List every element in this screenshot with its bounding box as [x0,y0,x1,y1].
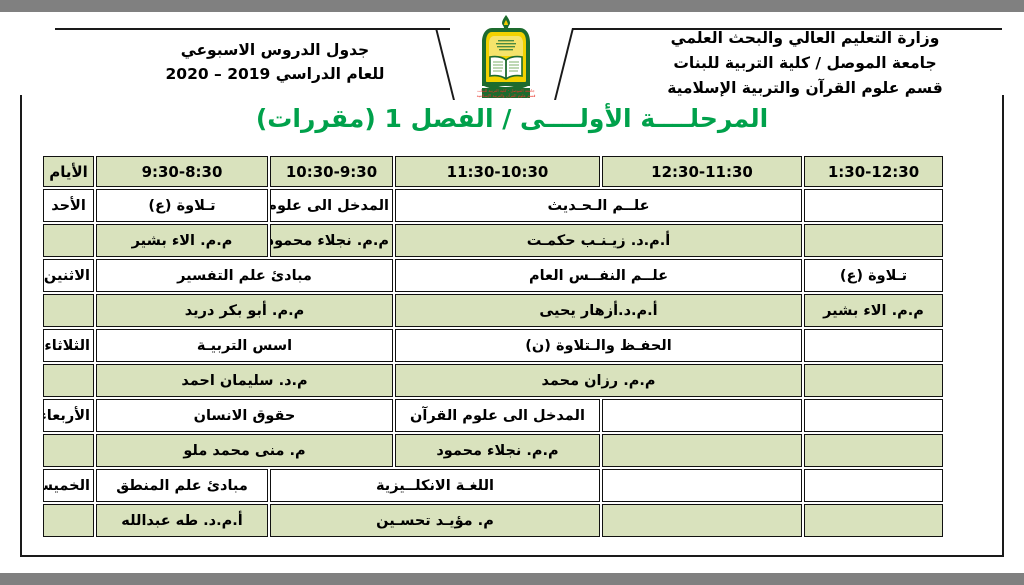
schedule-row: اللغـة الانكلــيزيةمبادئ علم المنطقالخمي… [43,469,943,502]
subject-cell: اسس التربيـة [96,329,393,362]
top-gray-bar [0,0,1024,12]
header-diagonal-left [435,28,455,100]
schedule-cell-empty [804,224,943,257]
days-column-header: الأيام [43,156,94,187]
schedule-body: 1:30-12:3012:30-11:3011:30-10:3010:30-9:… [43,156,943,537]
subject-cell: تـلاوة (ع) [804,259,943,292]
time-column-header: 12:30-11:30 [602,156,802,187]
subject-cell: المدخل الى علوم القرآن [270,189,393,222]
day-name-spacer [43,294,94,327]
header-diagonal-right [554,28,574,100]
schedule-row: المدخل الى علوم القرآنحقوق الانسانالأربع… [43,399,943,432]
subject-cell: علــم النفــس العام [395,259,802,292]
svg-text:قسم علوم القرآن والتربية الإسل: قسم علوم القرآن والتربية الإسلامية [477,93,536,99]
day-name-cell: الخميس [43,469,94,502]
header-rule-left [55,28,450,30]
schedule-row: علــم الـحـديثالمدخل الى علوم القرآنتـلا… [43,189,943,222]
instructor-cell: م.م. أبو بكر دريد [96,294,393,327]
schedule-cell-empty [804,434,943,467]
schedule-cell-empty [602,434,802,467]
instructor-cell: أ.م.د.أزهار يحيى [395,294,802,327]
instructor-cell: م. مؤيـد تحسـين [270,504,600,537]
time-column-header: 1:30-12:30 [804,156,943,187]
instructor-cell: م.م. الاء بشير [804,294,943,327]
schedule-row: تـلاوة (ع)علــم النفــس العاممبادئ علم ا… [43,259,943,292]
schedule-row: الحفـظ والـتلاوة (ن)اسس التربيـةالثلاثاء [43,329,943,362]
page-frame-left-border [20,95,22,557]
instructor-cell: م.م. رزان محمد [395,364,802,397]
schedule-cell-empty [804,469,943,502]
schedule-cell-empty [804,329,943,362]
institution-heading: وزارة التعليم العالي والبحث العلمي جامعة… [595,26,1015,100]
time-column-header: 10:30-9:30 [270,156,393,187]
instructor-cell: أ.م.د. زيـنـب حكمـت [395,224,802,257]
schedule-cell-empty [804,399,943,432]
schedule-cell-empty [804,189,943,222]
instructor-cell: م.م. الاء بشير [96,224,268,257]
day-name-spacer [43,224,94,257]
schedule-row: م.م. رزان محمدم.د. سليمان احمد [43,364,943,397]
instructor-cell: أ.م.د. طه عبدالله [96,504,268,537]
schedule-row: م.م. نجلاء محمودم. منى محمد ملو [43,434,943,467]
schedule-heading-line1: جدول الدروس الاسبوعي [115,38,435,62]
subject-cell: مبادئ علم التفسير [96,259,393,292]
schedule-cell-empty [602,504,802,537]
schedule-row: م.م. الاء بشيرأ.م.د.أزهار يحيىم.م. أبو ب… [43,294,943,327]
day-name-cell: الاثنين [43,259,94,292]
subject-cell: تـلاوة (ع) [96,189,268,222]
subject-cell: مبادئ علم المنطق [96,469,268,502]
university-line: جامعة الموصل / كلية التربية للبنات [595,51,1015,76]
schedule-cell-empty [804,364,943,397]
schedule-header-row: 1:30-12:3012:30-11:3011:30-10:3010:30-9:… [43,156,943,187]
page-title: المرحلــــة الأولــــى / الفصل 1 (مقررات… [20,104,1004,133]
weekly-schedule-table: 1:30-12:3012:30-11:3011:30-10:3010:30-9:… [41,154,945,539]
page-frame-bottom-border [20,555,1004,557]
schedule-cell-empty [602,399,802,432]
instructor-cell: م. منى محمد ملو [96,434,393,467]
day-name-spacer [43,434,94,467]
subject-cell: اللغـة الانكلــيزية [270,469,600,502]
weekly-schedule-table-container: 1:30-12:3012:30-11:3011:30-10:3010:30-9:… [51,154,945,539]
time-column-header: 11:30-10:30 [395,156,600,187]
schedule-cell-empty [602,469,802,502]
page-root: جدول الدروس الاسبوعي للعام الدراسي 2019 … [0,0,1024,585]
instructor-cell: م.د. سليمان احمد [96,364,393,397]
schedule-row: م. مؤيـد تحسـينأ.م.د. طه عبدالله [43,504,943,537]
time-column-header: 9:30-8:30 [96,156,268,187]
day-name-cell: الأحد [43,189,94,222]
bottom-gray-bar [0,573,1024,585]
university-logo-icon: جامعة الموصل - كلية التربية للبنات قسم ع… [458,12,554,100]
ministry-line: وزارة التعليم العالي والبحث العلمي [595,26,1015,51]
day-name-spacer [43,504,94,537]
schedule-heading-line2: للعام الدراسي 2019 – 2020 [115,62,435,86]
schedule-cell-empty [804,504,943,537]
subject-cell: الحفـظ والـتلاوة (ن) [395,329,802,362]
day-name-cell: الثلاثاء [43,329,94,362]
instructor-cell: م.م. نجلاء محمود [395,434,600,467]
schedule-row: أ.م.د. زيـنـب حكمـتم.م. نجلاء محمودم.م. … [43,224,943,257]
day-name-spacer [43,364,94,397]
subject-cell: علــم الـحـديث [395,189,802,222]
subject-cell: حقوق الانسان [96,399,393,432]
page-frame-right-border [1002,95,1004,557]
day-name-cell: الأربعاء [43,399,94,432]
instructor-cell: م.م. نجلاء محمود [270,224,393,257]
schedule-heading: جدول الدروس الاسبوعي للعام الدراسي 2019 … [115,38,435,86]
department-line: قسم علوم القرآن والتربية الإسلامية [595,76,1015,101]
subject-cell: المدخل الى علوم القرآن [395,399,600,432]
